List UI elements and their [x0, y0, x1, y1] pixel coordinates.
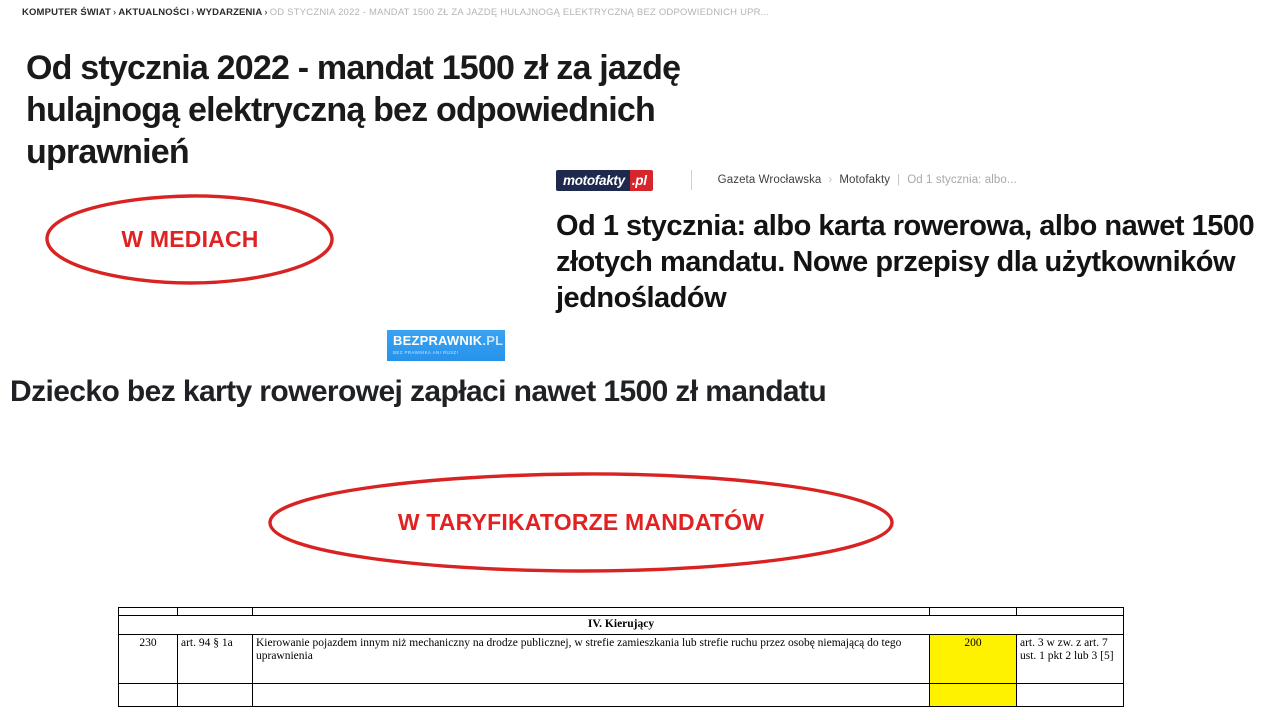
- motofakty-logo[interactable]: motofakty.pl: [556, 170, 653, 191]
- cell-reference: [1017, 683, 1124, 706]
- annotation-label-tariff: W TARYFIKATORZE MANDATÓW: [266, 470, 896, 575]
- bezprawnik-logo-text: BEZPRAWNIK.PL: [393, 334, 505, 347]
- breadcrumb-item-wydarzenia[interactable]: WYDARZENIA: [196, 7, 262, 18]
- motofakty-headline: Od 1 stycznia: albo karta rowerowa, albo…: [556, 208, 1280, 316]
- breadcrumb: KOMPUTER ŚWIAT›AKTUALNOŚCI›WYDARZENIA›OD…: [22, 6, 769, 20]
- bezprawnik-logo-name: BEZPRAWNIK: [393, 333, 482, 348]
- table-section-title: IV. Kierujący: [119, 616, 1124, 635]
- cell-article: art. 94 § 1a: [178, 634, 253, 683]
- cell-description: [253, 683, 930, 706]
- motofakty-logo-name: motofakty: [556, 170, 630, 191]
- bezprawnik-logo-tagline: BEZ PRAWNIKA ANI RUSZ!: [393, 349, 505, 356]
- fine-table: IV. Kierujący 230 art. 94 § 1a Kierowani…: [118, 607, 1124, 707]
- motofakty-breadcrumb-separator-icon: |: [890, 174, 907, 186]
- motofakty-article-clip: motofakty.pl Gazeta Wrocławska›Motofakty…: [556, 168, 1280, 316]
- cell-lp: 230: [119, 634, 178, 683]
- fine-table-container: IV. Kierujący 230 art. 94 § 1a Kierowani…: [118, 607, 1092, 707]
- page-title: Od stycznia 2022 - mandat 1500 zł za jaz…: [26, 47, 726, 173]
- annotation-ellipse-tariff: W TARYFIKATORZE MANDATÓW: [266, 470, 896, 575]
- motofakty-breadcrumb-separator-icon: ›: [821, 174, 839, 186]
- cell-description: Kierowanie pojazdem innym niż mechaniczn…: [253, 634, 930, 683]
- motofakty-header: motofakty.pl Gazeta Wrocławska›Motofakty…: [556, 168, 1280, 192]
- cell-lp: [119, 683, 178, 706]
- motofakty-breadcrumb: Gazeta Wrocławska›Motofakty|Od 1 styczni…: [718, 174, 1017, 186]
- annotation-ellipse-media: W MEDIACH: [44, 192, 336, 286]
- motofakty-breadcrumb-current: Od 1 stycznia: albo...: [907, 174, 1017, 186]
- divider: [691, 170, 692, 190]
- breadcrumb-item-komputer-swiat[interactable]: KOMPUTER ŚWIAT: [22, 7, 111, 18]
- breadcrumb-current-page: OD STYCZNIA 2022 - MANDAT 1500 ZŁ ZA JAZ…: [270, 7, 770, 18]
- breadcrumb-separator-icon: ›: [262, 7, 269, 18]
- bezprawnik-headline: Dziecko bez karty rowerowej zapłaci nawe…: [10, 373, 1040, 411]
- bezprawnik-logo[interactable]: BEZPRAWNIK.PL BEZ PRAWNIKA ANI RUSZ!: [387, 330, 505, 361]
- motofakty-breadcrumb-item-gazeta[interactable]: Gazeta Wrocławska: [718, 174, 822, 186]
- bezprawnik-logo-tld: .PL: [482, 333, 503, 348]
- cell-fine-amount: [930, 683, 1017, 706]
- motofakty-breadcrumb-item-motofakty[interactable]: Motofakty: [839, 174, 890, 186]
- cell-reference: art. 3 w zw. z art. 7 ust. 1 pkt 2 lub 3…: [1017, 634, 1124, 683]
- motofakty-logo-tld: .pl: [630, 170, 653, 191]
- table-top-edge: [119, 608, 1124, 616]
- table-section-header: IV. Kierujący: [119, 616, 1124, 635]
- table-row: [119, 683, 1124, 706]
- annotation-label-media: W MEDIACH: [44, 192, 336, 286]
- cell-article: [178, 683, 253, 706]
- cell-fine-amount: 200: [930, 634, 1017, 683]
- table-row: 230 art. 94 § 1a Kierowanie pojazdem inn…: [119, 634, 1124, 683]
- breadcrumb-item-aktualnosci[interactable]: AKTUALNOŚCI: [118, 7, 189, 18]
